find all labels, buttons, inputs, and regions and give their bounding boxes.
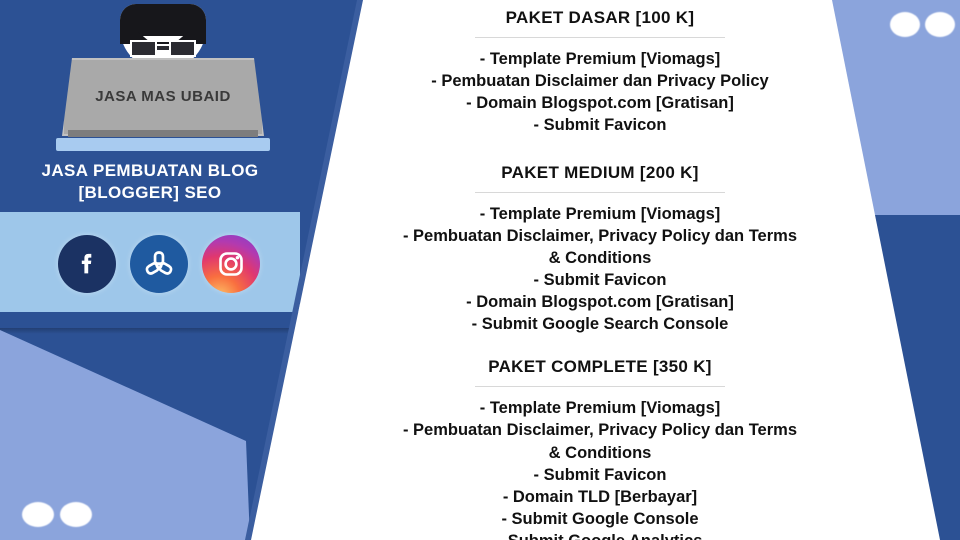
package-feature: - Domain Blogspot.com [Gratisan] bbox=[330, 291, 870, 313]
package-feature: - Template Premium [Viomags] bbox=[330, 397, 870, 419]
packages-list: PAKET DASAR [100 K] - Template Premium [… bbox=[330, 0, 870, 540]
package-feature: - Domain TLD [Berbayar] bbox=[330, 486, 870, 508]
hero-headline-line-1: JASA PEMBUATAN BLOG bbox=[0, 160, 300, 182]
package-feature: - Pembuatan Disclaimer, Privacy Policy d… bbox=[330, 419, 870, 441]
package-complete: PAKET COMPLETE [350 K] - Template Premiu… bbox=[330, 335, 870, 540]
poster-canvas: JASA MAS UBAID JASA PEMBUATAN BLOG [BLOG… bbox=[0, 0, 960, 540]
decorative-dot-bottom-left-2 bbox=[60, 502, 92, 527]
package-feature: & Conditions bbox=[330, 247, 870, 269]
package-feature: & Conditions bbox=[330, 442, 870, 464]
package-title: PAKET MEDIUM [200 K] bbox=[330, 163, 870, 183]
laptop-lip bbox=[68, 130, 258, 137]
blogger-propeller-icon[interactable] bbox=[130, 235, 188, 293]
facebook-icon[interactable] bbox=[58, 235, 116, 293]
package-feature: - Submit Favicon bbox=[330, 464, 870, 486]
package-feature: - Submit Favicon bbox=[330, 269, 870, 291]
hero-headline: JASA PEMBUATAN BLOG [BLOGGER] SEO bbox=[0, 160, 300, 204]
package-medium: PAKET MEDIUM [200 K] - Template Premium … bbox=[330, 137, 870, 336]
glasses-lens-right bbox=[169, 40, 196, 57]
background-band-shadow bbox=[0, 328, 300, 334]
package-features: - Template Premium [Viomags] - Pembuatan… bbox=[330, 397, 870, 540]
package-divider bbox=[475, 192, 725, 193]
decorative-dot-top-right-2 bbox=[925, 12, 955, 37]
package-feature: - Pembuatan Disclaimer, Privacy Policy d… bbox=[330, 225, 870, 247]
glasses-bridge bbox=[157, 46, 169, 50]
package-feature: - Domain Blogspot.com [Gratisan] bbox=[330, 92, 870, 114]
hero-illustration: JASA MAS UBAID JASA PEMBUATAN BLOG [BLOG… bbox=[0, 0, 300, 215]
package-feature: - Submit Google Console bbox=[330, 508, 870, 530]
package-feature: - Template Premium [Viomags] bbox=[330, 203, 870, 225]
laptop-screen-label: JASA MAS UBAID bbox=[62, 88, 264, 105]
hero-headline-line-2: [BLOGGER] SEO bbox=[0, 182, 300, 204]
package-basic: PAKET DASAR [100 K] - Template Premium [… bbox=[330, 0, 870, 137]
package-divider bbox=[475, 386, 725, 387]
social-links bbox=[58, 228, 268, 300]
package-features: - Template Premium [Viomags] - Pembuatan… bbox=[330, 48, 870, 137]
package-features: - Template Premium [Viomags] - Pembuatan… bbox=[330, 203, 870, 336]
instagram-icon[interactable] bbox=[202, 235, 260, 293]
package-feature: - Pembuatan Disclaimer dan Privacy Polic… bbox=[330, 70, 870, 92]
package-feature: - Submit Google Search Console bbox=[330, 313, 870, 335]
laptop-screen: JASA MAS UBAID bbox=[62, 58, 264, 136]
package-divider bbox=[475, 37, 725, 38]
package-title: PAKET DASAR [100 K] bbox=[330, 8, 870, 28]
glasses-lens-left bbox=[130, 40, 157, 57]
package-feature: - Template Premium [Viomags] bbox=[330, 48, 870, 70]
glasses-icon bbox=[130, 40, 196, 57]
package-feature: - Submit Google Analytics bbox=[330, 530, 870, 540]
package-feature: - Submit Favicon bbox=[330, 114, 870, 136]
person-hair bbox=[120, 4, 206, 36]
laptop-base bbox=[56, 138, 270, 151]
decorative-dot-bottom-left-1 bbox=[22, 502, 54, 527]
decorative-dot-top-right-1 bbox=[890, 12, 920, 37]
package-title: PAKET COMPLETE [350 K] bbox=[330, 357, 870, 377]
